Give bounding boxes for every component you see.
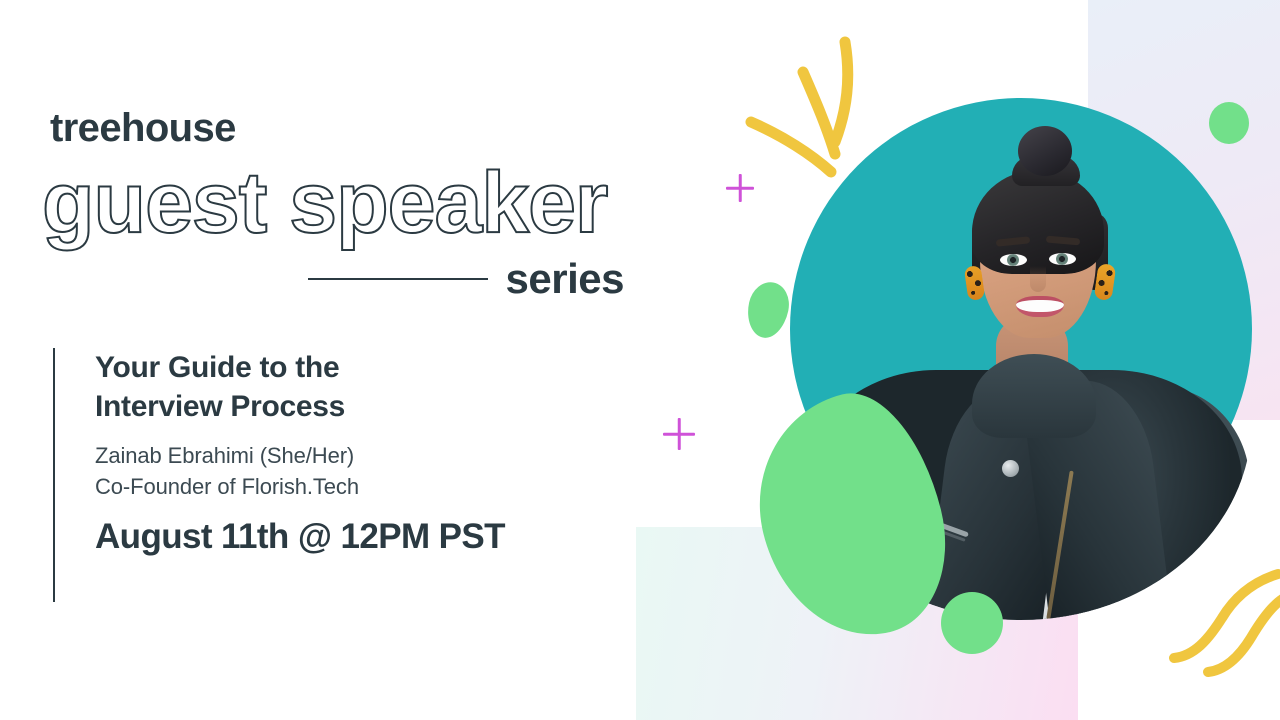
talk-title: Your Guide to the Interview Process <box>95 348 425 426</box>
iris-left <box>1007 254 1019 266</box>
smiling-mouth <box>1016 296 1064 317</box>
brand-wordmark: treehouse <box>50 108 236 148</box>
speaker-name: Zainab Ebrahimi (She/Her) <box>95 440 505 471</box>
jacket-collar <box>972 354 1096 438</box>
event-datetime: August 11th @ 12PM PST <box>95 518 505 557</box>
nose <box>1030 266 1046 292</box>
slide-canvas: treehouse guest speaker series Your Guid… <box>0 0 1280 720</box>
earring-right <box>1094 263 1117 301</box>
headline-outline: guest speaker <box>42 160 607 246</box>
plus-mark-icon-upper <box>726 174 754 202</box>
iris-right <box>1056 253 1068 265</box>
green-blob-icon-small <box>743 278 794 341</box>
series-row: series <box>308 258 624 300</box>
jacket-snap-button <box>1002 460 1019 477</box>
eye-left <box>1000 254 1027 266</box>
green-dot-icon-upper <box>1209 102 1249 144</box>
event-details: Your Guide to the Interview Process Zain… <box>53 348 505 602</box>
series-divider-rule <box>308 278 488 280</box>
plus-mark-icon-lower <box>663 418 695 450</box>
eye-right <box>1049 253 1076 265</box>
series-label: series <box>506 258 624 300</box>
speaker-role: Co-Founder of Florish.Tech <box>95 471 505 502</box>
hair-bun <box>1018 126 1072 176</box>
green-dot-icon-lower <box>941 592 1003 654</box>
